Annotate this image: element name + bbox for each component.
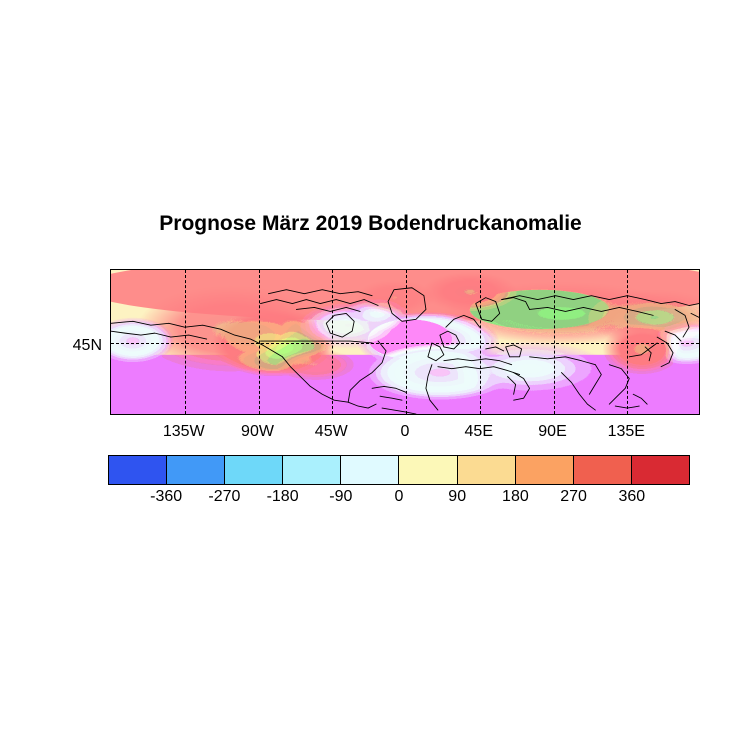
map-panel bbox=[110, 269, 700, 415]
colorbar-band-4 bbox=[283, 456, 341, 484]
colorbar-bands bbox=[108, 455, 690, 485]
colorbar-band-7 bbox=[458, 456, 516, 484]
colorbar-band-6 bbox=[399, 456, 457, 484]
colorbar-tick-90: 90 bbox=[448, 488, 466, 506]
colorbar-tick-180: 180 bbox=[502, 488, 529, 506]
axis-label-lon-135W: 135W bbox=[163, 423, 205, 441]
colorbar-band-1 bbox=[109, 456, 167, 484]
axis-label-lon-0: 0 bbox=[401, 423, 410, 441]
page-title: Prognose März 2019 Bodendruckanomalie bbox=[0, 212, 741, 236]
colorbar-band-9 bbox=[574, 456, 632, 484]
colorbar-tick--180: -180 bbox=[267, 488, 299, 506]
axis-label-lon-45W: 45W bbox=[315, 423, 348, 441]
colorbar-tick--360: -360 bbox=[150, 488, 182, 506]
colorbar-tick--90: -90 bbox=[329, 488, 352, 506]
colorbar-tick-360: 360 bbox=[618, 488, 645, 506]
colorbar-tick--270: -270 bbox=[208, 488, 240, 506]
colorbar-band-8 bbox=[516, 456, 574, 484]
map-heatmap-canvas bbox=[111, 270, 699, 414]
axis-label-lon-135E: 135E bbox=[608, 423, 645, 441]
figure-root: Prognose März 2019 Bodendruckanomalie bbox=[0, 0, 741, 741]
axis-label-lon-90E: 90E bbox=[538, 423, 566, 441]
axis-label-lon-45E: 45E bbox=[465, 423, 493, 441]
colorbar-band-3 bbox=[225, 456, 283, 484]
colorbar-band-5 bbox=[341, 456, 399, 484]
anomaly-field bbox=[111, 270, 699, 414]
colorbar-band-2 bbox=[167, 456, 225, 484]
colorbar-tick-0: 0 bbox=[395, 488, 404, 506]
colorbar: -360 -270 -180 -90 0 90 180 270 360 bbox=[108, 455, 690, 485]
axis-label-lon-90W: 90W bbox=[241, 423, 274, 441]
colorbar-tick-270: 270 bbox=[560, 488, 587, 506]
axis-label-lat-45N: 45N bbox=[62, 337, 102, 355]
colorbar-band-10 bbox=[632, 456, 689, 484]
